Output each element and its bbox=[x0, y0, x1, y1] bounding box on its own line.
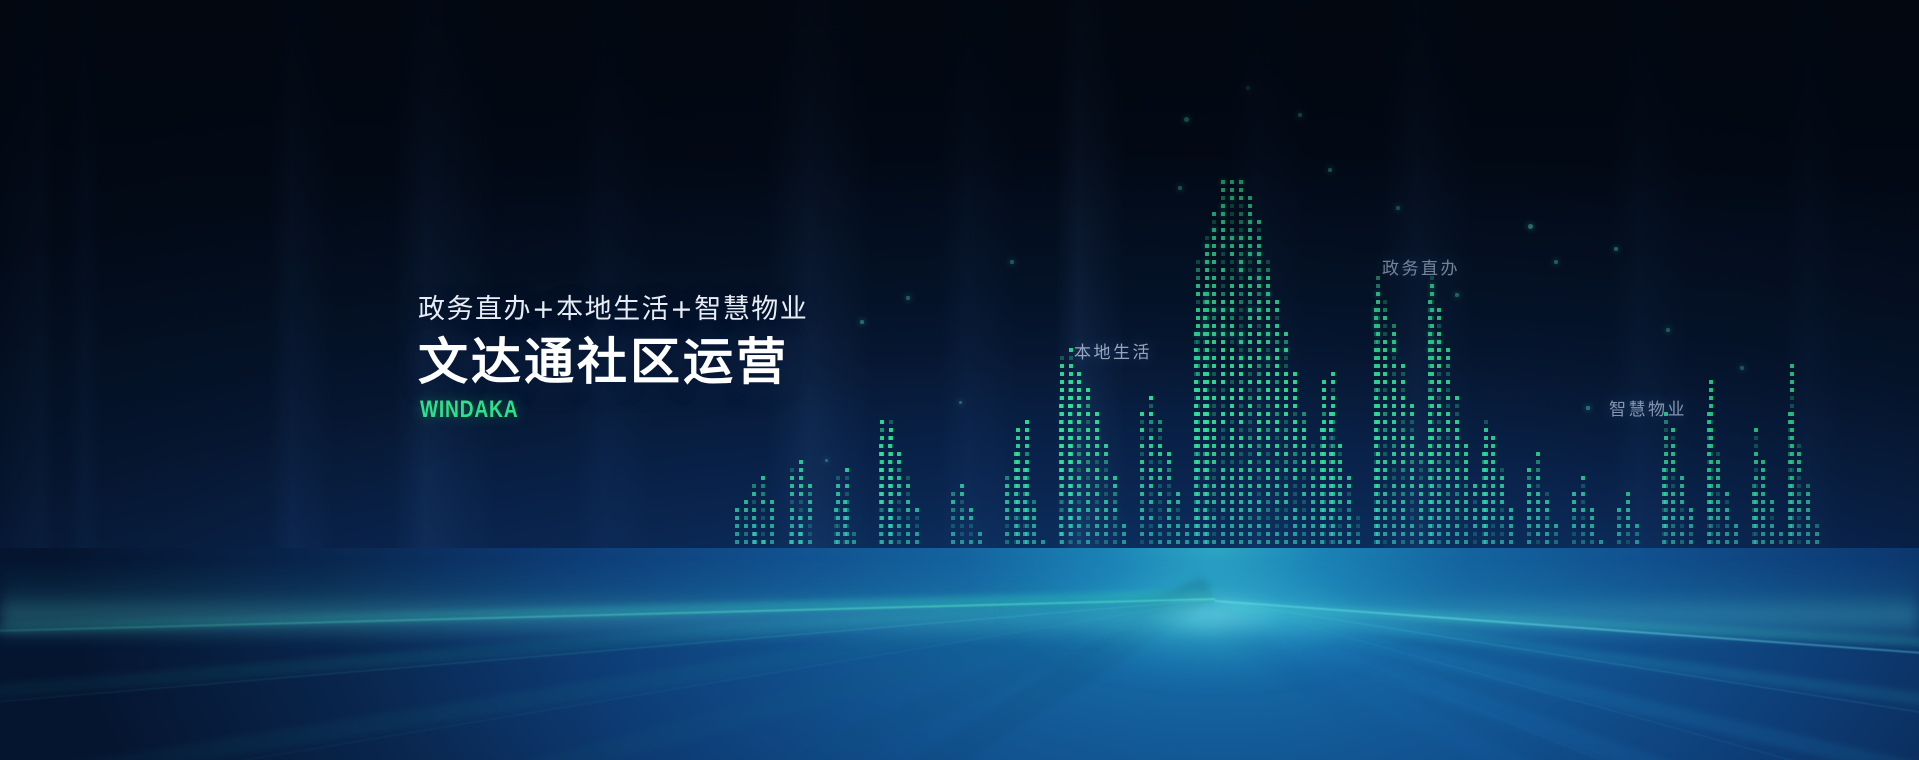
subtitle: 政务直办+本地生活+智慧物业 bbox=[418, 294, 808, 325]
hero-banner: 政务直办 本地生活 智慧物业 政务直办+本地生活+智慧物业 文达通社区运营 WI… bbox=[0, 0, 1919, 760]
floating-label-government: 政务直办 bbox=[1382, 254, 1460, 279]
brand-name: WINDAKA bbox=[420, 398, 731, 422]
perspective-ground-plane bbox=[0, 548, 1919, 760]
floating-label-local-life: 本地生活 bbox=[1074, 338, 1152, 363]
page-title: 文达通社区运营 bbox=[418, 335, 808, 389]
headline-block: 政务直办+本地生活+智慧物业 文达通社区运营 WINDAKA bbox=[418, 294, 808, 422]
floating-label-smart-property: 智慧物业 bbox=[1609, 395, 1687, 420]
